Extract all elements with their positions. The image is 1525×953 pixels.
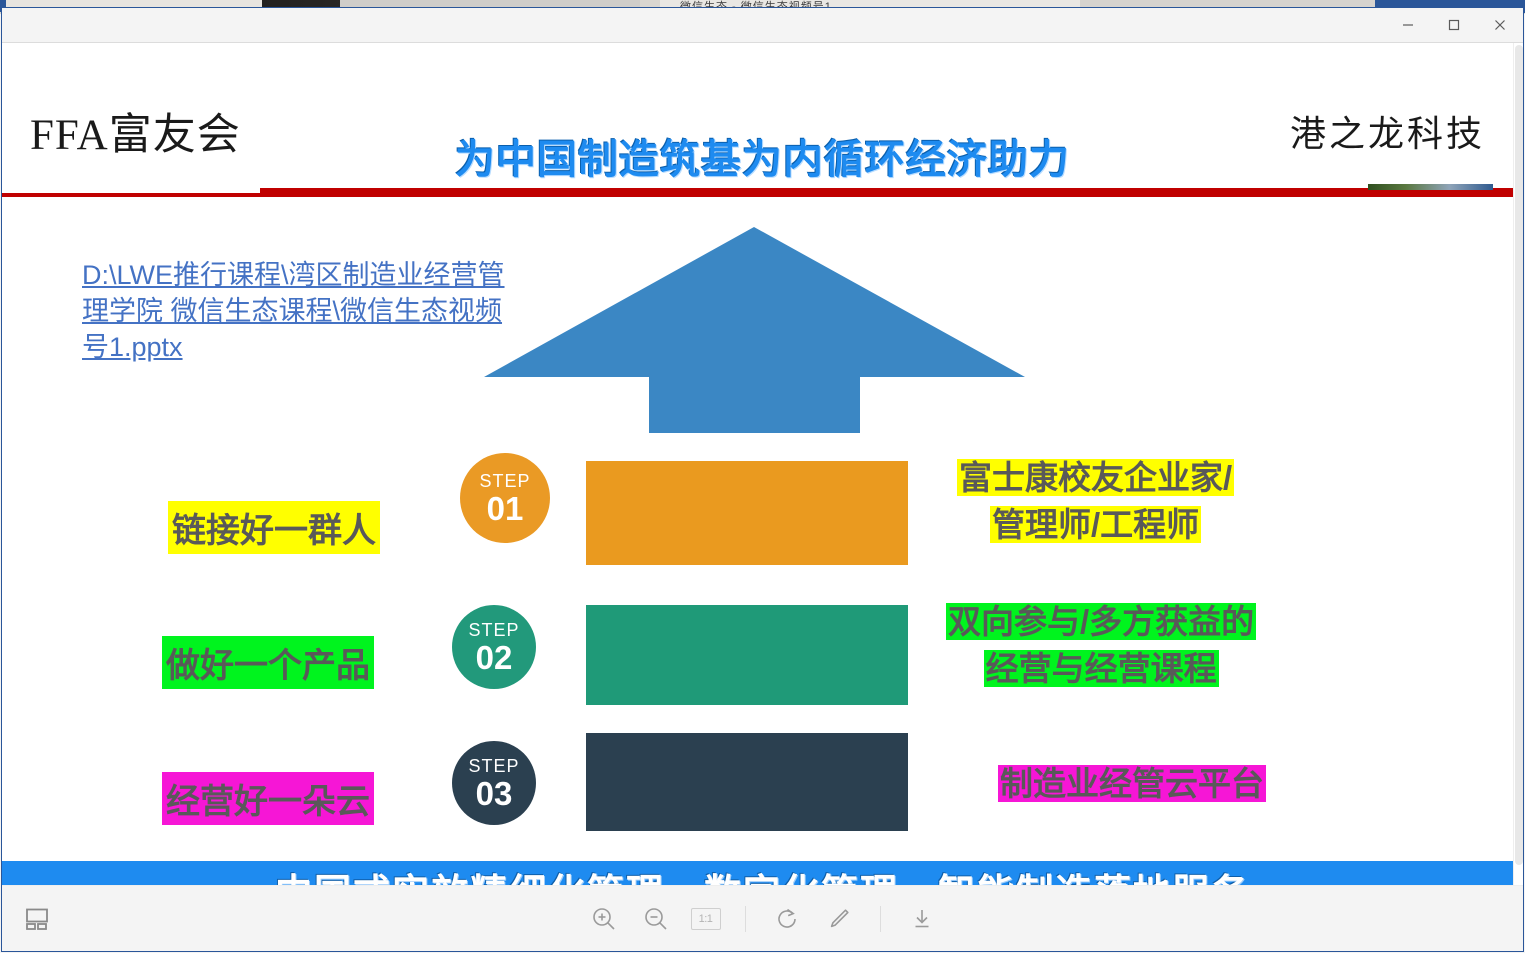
close-button[interactable] — [1477, 9, 1523, 42]
step-2-word: STEP — [468, 621, 519, 639]
file-path-link[interactable]: D:\LWE推行课程\湾区制造业经营管理学院 微信生态课程\微信生态视频号1.p… — [82, 257, 512, 365]
maximize-button[interactable] — [1431, 9, 1477, 42]
step-3-left-label: 经营好一朵云 — [162, 772, 374, 825]
toolbar-divider-1 — [745, 906, 746, 932]
step-row-1: 链接好一群人 STEP 01 富士康校友企业家/ 管理师/工程师 — [2, 441, 1523, 581]
header-accent-bar — [1368, 184, 1493, 190]
image-viewer-window: FFA富友会 为中国制造筑基为内循环经济助力 港之龙科技 D:\LWE推行课程\… — [1, 7, 1524, 952]
vertical-scrollbar-thumb[interactable] — [1515, 45, 1523, 865]
header-rule-notch — [2, 185, 260, 193]
zoom-in-icon[interactable] — [587, 902, 621, 936]
step-3-word: STEP — [468, 757, 519, 775]
step-1-bar — [586, 461, 908, 565]
slide-content: FFA富友会 为中国制造筑基为内循环经济助力 港之龙科技 D:\LWE推行课程\… — [2, 43, 1523, 885]
window-titlebar — [2, 8, 1523, 42]
slide-footer-banner-text: 中国式实效精细化管理、数字化管理、智能制造落地服务 — [275, 862, 1250, 885]
step-3-number: 03 — [476, 777, 513, 810]
vertical-scrollbar[interactable] — [1513, 43, 1523, 885]
download-icon[interactable] — [905, 902, 939, 936]
company-logo-right: 港之龙科技 — [1290, 105, 1485, 157]
zoom-out-icon[interactable] — [639, 902, 673, 936]
step-1-number: 01 — [487, 492, 524, 525]
step-1-word: STEP — [479, 472, 530, 490]
step-2-right-line-1: 双向参与/多方获益的 — [946, 603, 1256, 640]
pencil-icon[interactable] — [822, 902, 856, 936]
step-1-right-line-2: 管理师/工程师 — [990, 506, 1201, 543]
thumbnail-panel-icon[interactable] — [20, 904, 54, 934]
toolbar-divider-2 — [880, 906, 881, 932]
step-2-left-label: 做好一个产品 — [162, 636, 374, 689]
step-1-right-label: 富士康校友企业家/ 管理师/工程师 — [957, 455, 1234, 549]
step-1-right-line-1: 富士康校友企业家/ — [957, 459, 1234, 496]
step-3-badge: STEP 03 — [452, 741, 536, 825]
toolbar-tools: 1:1 — [587, 902, 939, 936]
step-2-number: 02 — [476, 641, 513, 674]
step-1-badge: STEP 01 — [460, 453, 550, 543]
step-2-badge: STEP 02 — [452, 605, 536, 689]
up-arrow-graphic — [482, 225, 1027, 435]
step-1-left-label: 链接好一群人 — [168, 501, 380, 554]
slide-footer-banner: 中国式实效精细化管理、数字化管理、智能制造落地服务 — [2, 861, 1523, 885]
step-2-right-label: 双向参与/多方获益的 经营与经营课程 — [946, 599, 1256, 693]
minimize-button[interactable] — [1385, 9, 1431, 42]
step-row-2: 做好一个产品 STEP 02 双向参与/多方获益的 经营与经营课程 — [2, 591, 1523, 731]
slide-header: FFA富友会 为中国制造筑基为内循环经济助力 港之龙科技 — [2, 43, 1523, 189]
app-root: 微信生态 - 微信生态视频号1 FFA富友会 为中国制造筑基为内循环经济助力 — [0, 0, 1525, 953]
step-row-3: 经营好一朵云 STEP 03 制造业经管云平台 — [2, 731, 1523, 856]
rotate-icon[interactable] — [770, 902, 804, 936]
step-3-bar — [586, 733, 908, 831]
actual-size-button[interactable]: 1:1 — [691, 908, 721, 930]
step-3-right-label: 制造业经管云平台 — [998, 761, 1266, 808]
step-2-right-line-2: 经营与经营课程 — [984, 650, 1219, 687]
viewer-toolbar: 1:1 — [2, 885, 1523, 951]
step-2-bar — [586, 605, 908, 705]
step-3-right-line-1: 制造业经管云平台 — [998, 765, 1266, 802]
document-canvas[interactable]: FFA富友会 为中国制造筑基为内循环经济助力 港之龙科技 D:\LWE推行课程\… — [2, 42, 1523, 885]
